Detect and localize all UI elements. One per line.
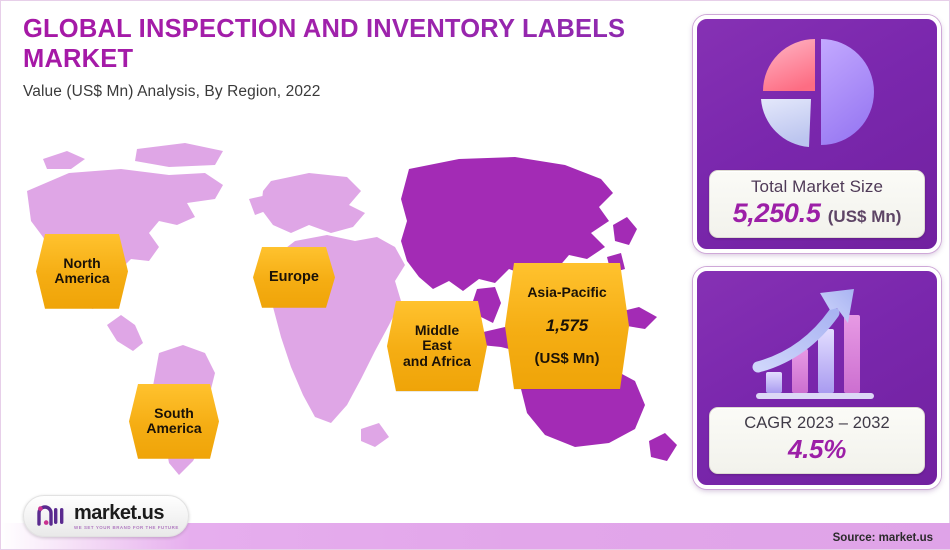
total-market-size-stat: Total Market Size 5,250.5 (US$ Mn) xyxy=(709,170,925,238)
growth-bar-chart-icon xyxy=(697,279,937,414)
header: Global Inspection and Inventory Labels M… xyxy=(23,15,673,101)
cagr-card[interactable]: CAGR 2023 – 2032 4.5% xyxy=(693,267,941,489)
market-us-logo-name: market.us xyxy=(74,503,179,523)
map-label-south-america-text: South America xyxy=(145,406,203,437)
total-market-size-label: Total Market Size xyxy=(714,177,920,197)
total-market-size-number: 5,250.5 xyxy=(733,198,821,228)
map-label-asia-pacific-text: Asia-Pacific xyxy=(521,285,613,301)
page-title: Global Inspection and Inventory Labels M… xyxy=(23,15,673,74)
map-region-europe[interactable] xyxy=(249,173,365,233)
map-label-south-america[interactable]: South America xyxy=(129,384,219,459)
map-label-europe[interactable]: Europe xyxy=(253,247,335,308)
market-us-logo-tagline: WE SET YOUR BRAND FOR THE FUTURE xyxy=(74,525,179,530)
map-label-north-america[interactable]: North America xyxy=(36,234,128,309)
map-label-asia-pacific[interactable]: Asia-Pacific 1,575 (US$ Mn) xyxy=(505,263,629,389)
map-label-asia-pacific-unit: (US$ Mn) xyxy=(521,351,613,368)
cagr-label: CAGR 2023 – 2032 xyxy=(714,414,920,433)
cagr-value: 4.5% xyxy=(714,434,920,465)
map-label-north-america-text: North America xyxy=(52,256,112,287)
pie-chart-icon xyxy=(697,27,937,162)
total-market-size-card[interactable]: Total Market Size 5,250.5 (US$ Mn) xyxy=(693,15,941,253)
total-market-size-unit: (US$ Mn) xyxy=(828,207,902,226)
cagr-stat: CAGR 2023 – 2032 4.5% xyxy=(709,407,925,474)
source-label: Source: market.us xyxy=(833,532,933,544)
infographic-canvas: Global Inspection and Inventory Labels M… xyxy=(0,0,950,550)
map-label-middle-east-and-africa-text: Middle East and Africa xyxy=(403,323,471,370)
map-label-asia-pacific-value: 1,575 xyxy=(521,316,613,335)
market-us-logo[interactable]: market.us WE SET YOUR BRAND FOR THE FUTU… xyxy=(23,495,189,537)
market-us-logo-icon xyxy=(37,504,67,528)
total-market-size-value: 5,250.5 (US$ Mn) xyxy=(714,198,920,229)
page-subtitle: Value (US$ Mn) Analysis, By Region, 2022 xyxy=(23,83,673,101)
map-label-europe-text: Europe xyxy=(269,269,319,285)
map-label-middle-east-and-africa[interactable]: Middle East and Africa xyxy=(387,301,487,391)
